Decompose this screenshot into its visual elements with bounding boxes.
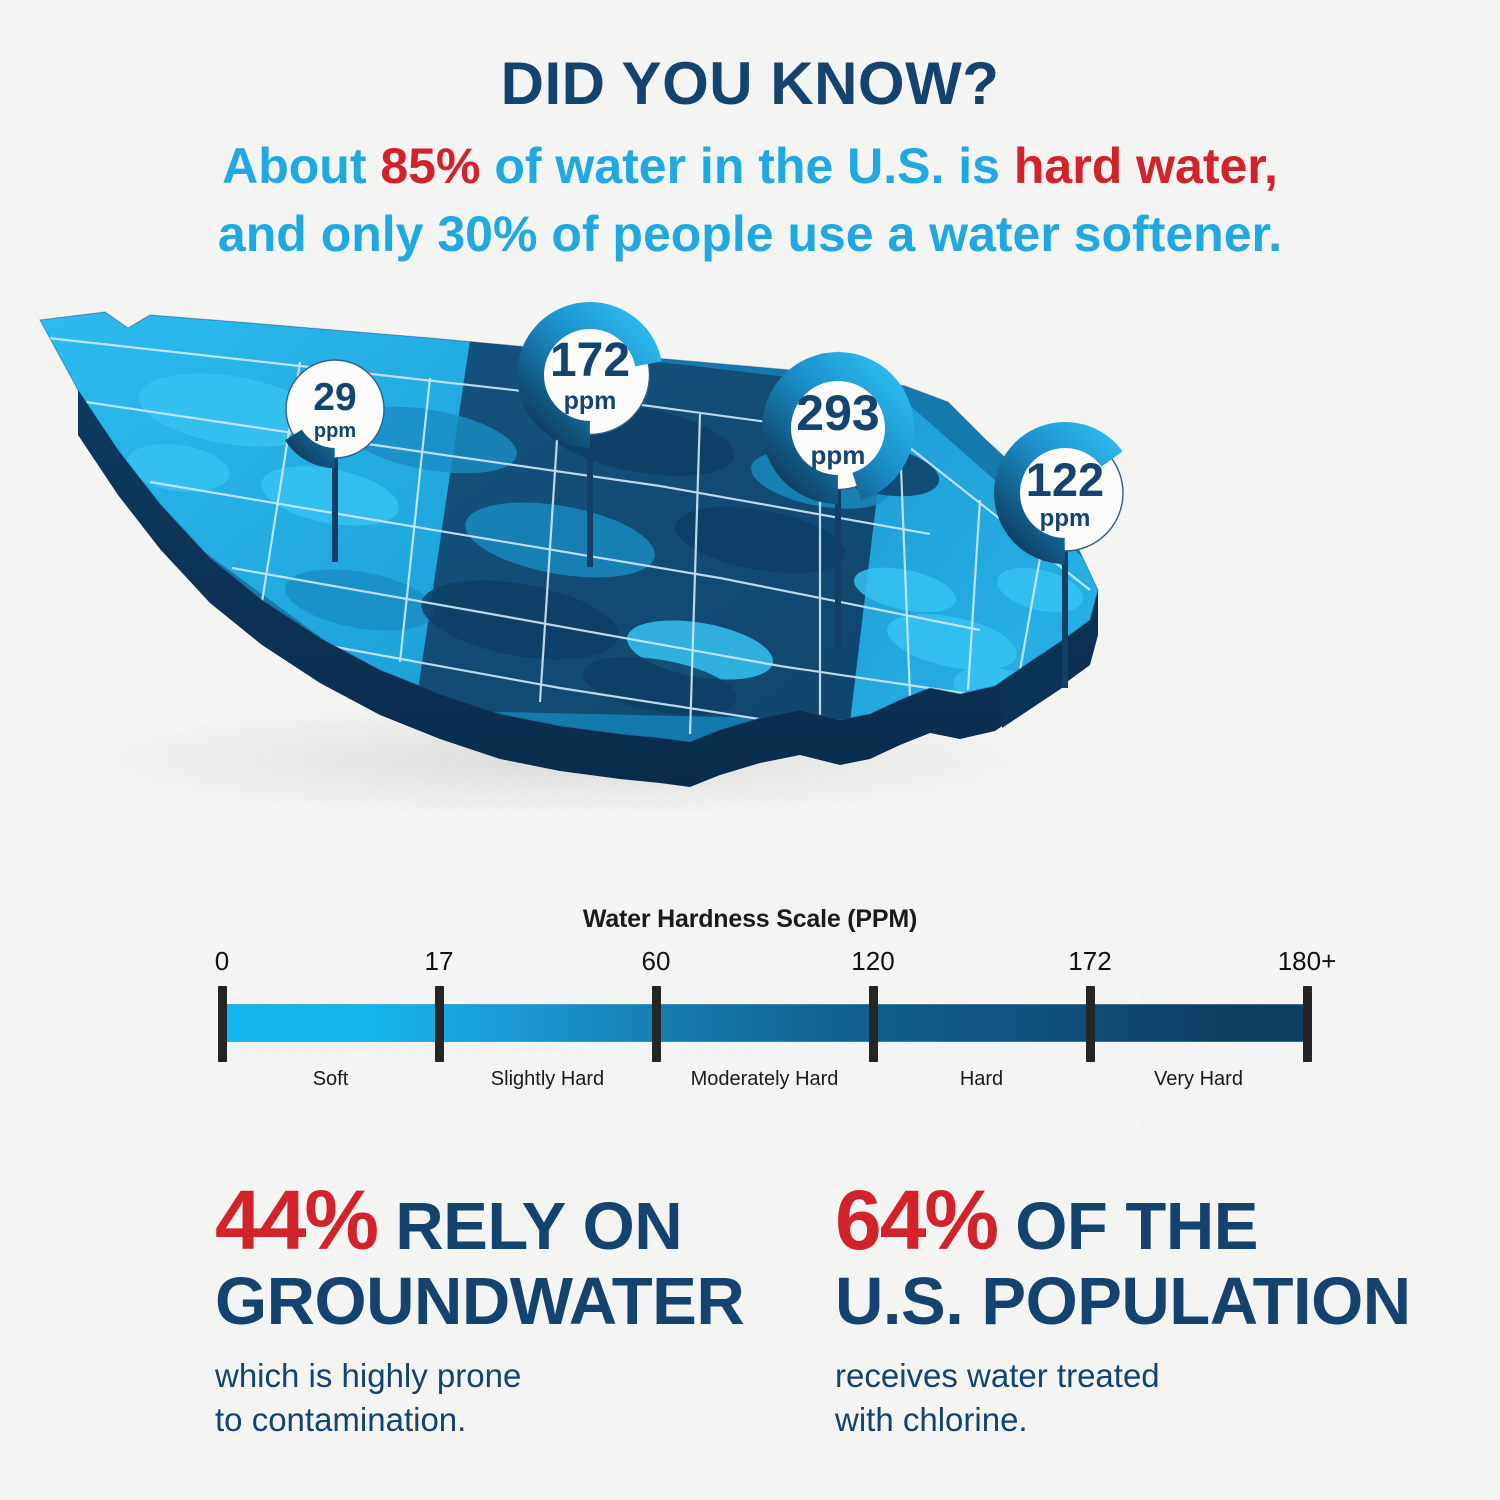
scale-wrap: 01760120172180+ SoftSlightly HardModerat… xyxy=(0,972,1500,1122)
scale-band-very-hard: Very Hard xyxy=(1154,1068,1243,1091)
subtitle-term-hard-water: hard water, xyxy=(1014,138,1278,194)
pin-unit-122: ppm xyxy=(1040,507,1091,531)
scale-tick-180+ xyxy=(1303,986,1312,1062)
map-pin-172ppm[interactable]: 172ppm xyxy=(517,302,663,573)
stat-2-body-line-2: with chlorine. xyxy=(835,1398,1411,1442)
map-pin-122ppm[interactable]: 122ppm xyxy=(994,422,1136,694)
pin-value-122: 122 xyxy=(1026,456,1104,503)
pin-unit-172: ppm xyxy=(564,389,617,414)
scale-gradient-bar xyxy=(222,1004,1307,1042)
stat-1-body: which is highly prone to contamination. xyxy=(215,1354,744,1441)
header-subtitle-line-1: About 85% of water in the U.S. is hard w… xyxy=(0,133,1500,201)
pin-label-29: 29ppm xyxy=(276,350,394,468)
scale-band-hard: Hard xyxy=(960,1068,1003,1091)
scale-band-moderately-hard: Moderately Hard xyxy=(691,1068,839,1091)
stat-groundwater: 44% RELY ON GROUNDWATER which is highly … xyxy=(215,1175,744,1441)
stat-2-body: receives water treated with chlorine. xyxy=(835,1354,1411,1441)
subtitle-text-mid: of water in the U.S. is xyxy=(480,138,1013,194)
stat-1-head1: RELY ON xyxy=(377,1189,682,1264)
scale-tick-120 xyxy=(869,986,878,1062)
page-title: DID YOU KNOW? xyxy=(0,52,1500,115)
scale-tick-label-0: 0 xyxy=(215,946,229,977)
stat-1-headline: 44% RELY ON GROUNDWATER xyxy=(215,1175,744,1338)
stat-2-headline: 64% OF THE U.S. POPULATION xyxy=(835,1175,1411,1338)
map-section: 29ppm172ppm293ppm122ppm xyxy=(0,290,1500,950)
scale-tick-label-180+: 180+ xyxy=(1278,946,1337,977)
pin-label-122: 122ppm xyxy=(994,422,1136,564)
pin-label-293: 293ppm xyxy=(762,352,914,504)
stat-2-body-line-1: receives water treated xyxy=(835,1354,1411,1398)
subtitle-text-about: About xyxy=(222,138,380,194)
pin-label-172: 172ppm xyxy=(517,302,663,448)
scale-band-soft: Soft xyxy=(313,1068,349,1091)
stat-2-head1: OF THE xyxy=(997,1189,1258,1264)
scale-tick-label-120: 120 xyxy=(851,946,894,977)
scale-tick-17 xyxy=(435,986,444,1062)
us-map-svg xyxy=(0,290,1500,950)
map-pin-29ppm[interactable]: 29ppm xyxy=(276,350,394,568)
scale-tick-label-172: 172 xyxy=(1068,946,1111,977)
pin-value-172: 172 xyxy=(550,337,630,385)
stat-1-body-line-1: which is highly prone xyxy=(215,1354,744,1398)
scale-tick-label-60: 60 xyxy=(642,946,671,977)
bottom-statistics: 44% RELY ON GROUNDWATER which is highly … xyxy=(0,1175,1500,1455)
stat-1-percent: 44% xyxy=(215,1173,377,1267)
pin-unit-293: ppm xyxy=(811,442,866,468)
scale-tick-0 xyxy=(218,986,227,1062)
scale-tick-label-17: 17 xyxy=(425,946,454,977)
map-top-surface xyxy=(0,290,1500,790)
scale-tick-60 xyxy=(652,986,661,1062)
pin-value-293: 293 xyxy=(796,388,879,438)
map-pin-293ppm[interactable]: 293ppm xyxy=(762,352,914,654)
header-subtitle: About 85% of water in the U.S. is hard w… xyxy=(0,133,1500,268)
stat-1-head2: GROUNDWATER xyxy=(215,1266,744,1338)
infographic-canvas: DID YOU KNOW? About 85% of water in the … xyxy=(0,0,1500,1500)
stat-2-percent: 64% xyxy=(835,1173,997,1267)
water-hardness-scale: Water Hardness Scale (PPM) 0176012017218… xyxy=(0,905,1500,1122)
header-subtitle-line-2: and only 30% of people use a water softe… xyxy=(0,201,1500,269)
subtitle-stat-85: 85% xyxy=(380,138,480,194)
stat-1-body-line-2: to contamination. xyxy=(215,1398,744,1442)
scale-title: Water Hardness Scale (PPM) xyxy=(0,905,1500,934)
scale-tick-172 xyxy=(1086,986,1095,1062)
stat-chlorine: 64% OF THE U.S. POPULATION receives wate… xyxy=(835,1175,1411,1441)
stat-2-head2: U.S. POPULATION xyxy=(835,1266,1411,1338)
scale-band-slightly-hard: Slightly Hard xyxy=(491,1068,604,1091)
header: DID YOU KNOW? About 85% of water in the … xyxy=(0,52,1500,268)
pin-unit-29: ppm xyxy=(314,421,356,441)
pin-value-29: 29 xyxy=(313,378,356,417)
